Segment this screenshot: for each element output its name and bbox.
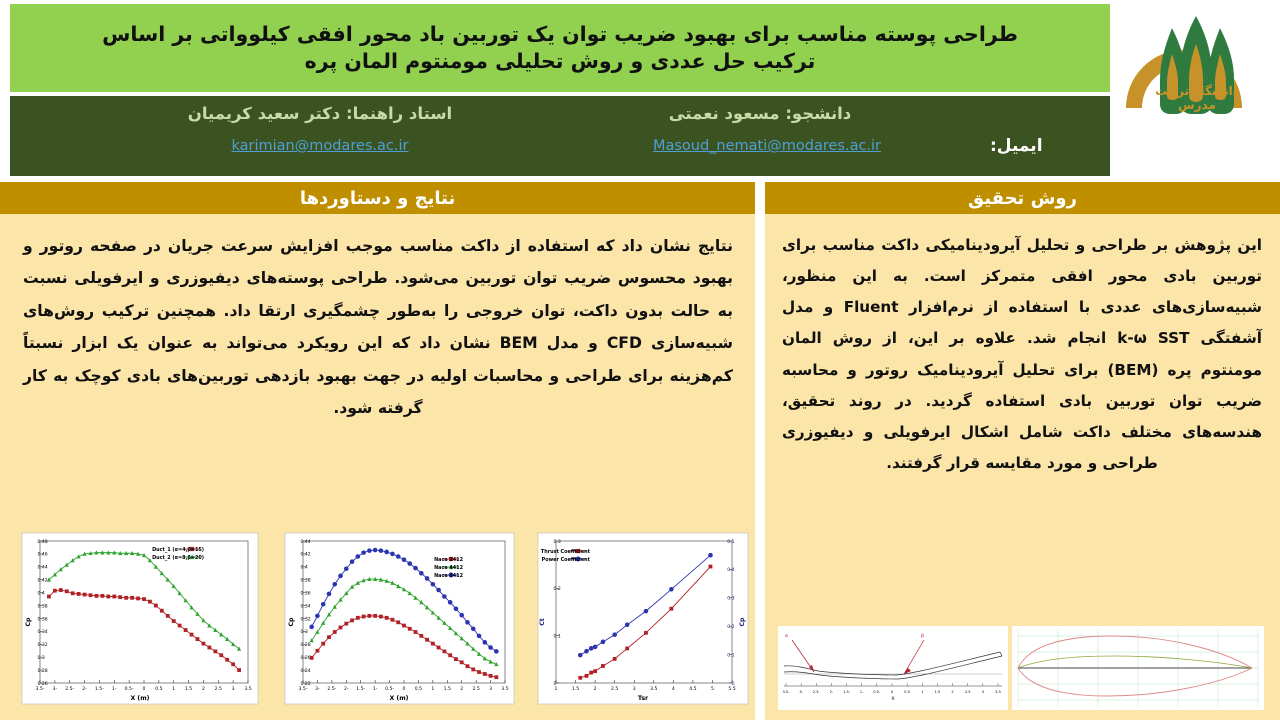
data-point — [47, 595, 51, 599]
data-point — [625, 647, 629, 651]
duct-x-tick-label: -2.5 — [813, 690, 821, 694]
duct-x-tick-label: 1 — [921, 690, 923, 694]
y-tick-label: 0.2 — [554, 586, 561, 592]
y-tick-label: 0.38 — [301, 578, 311, 584]
duct-alpha-label: α — [785, 634, 788, 639]
x-tick-label: -3.5 — [36, 686, 45, 692]
email-label: ایمیل: — [990, 136, 1100, 156]
data-point — [593, 645, 598, 650]
x-tick-label: 1.5 — [185, 686, 192, 692]
y-tick-label: 0.26 — [301, 655, 311, 661]
data-point — [402, 557, 407, 562]
legend-label: Naca 4412 — [434, 565, 463, 571]
data-point — [344, 622, 348, 626]
data-point — [431, 582, 436, 587]
x-tick-label: -1 — [373, 686, 378, 692]
x-tick-label: -3 — [53, 686, 58, 692]
data-point — [202, 642, 206, 646]
data-point — [356, 616, 360, 620]
data-point — [425, 638, 429, 642]
y-tick-label: 0.32 — [301, 616, 311, 622]
x-tick-label: -1.5 — [95, 686, 104, 692]
x-tick-label: -2 — [82, 686, 87, 692]
x-tick-label: 1.5 — [572, 686, 579, 692]
section-header-results: نتایج و دستاوردها — [0, 182, 755, 214]
data-point — [71, 591, 75, 595]
y-tick-label: 0.32 — [38, 642, 48, 648]
fig3-ylabel-right: Cp — [739, 617, 746, 627]
logo-caption: دانشگاه تربیت مدرس — [1148, 84, 1246, 112]
data-point — [338, 574, 343, 579]
data-point — [709, 565, 713, 569]
y-tick-label: 0.24 — [301, 668, 311, 674]
data-point — [112, 595, 116, 599]
data-point — [339, 626, 343, 630]
data-point — [391, 618, 395, 622]
duct-xlabel: X — [891, 696, 894, 702]
chart-duct-comparison-svg: -3.5-3-2.5-2-1.5-1-0.500.511.522.533.50.… — [14, 527, 266, 710]
duct-x-tick-label: 2.5 — [965, 690, 971, 694]
fig3-xlabel: Tsr — [638, 695, 649, 702]
data-point — [494, 675, 498, 679]
data-point — [166, 614, 170, 618]
chart-naca-comparison: -3.5-3-2.5-2-1.5-1-0.500.511.522.533.50.… — [277, 527, 522, 710]
x-tick-label: 3 — [633, 686, 636, 692]
data-point — [477, 670, 481, 674]
y-tick-label: 0.38 — [38, 603, 48, 609]
data-point — [356, 554, 361, 559]
data-point — [425, 576, 430, 581]
data-point — [407, 561, 412, 566]
data-point — [601, 664, 605, 668]
advisor-name: استاد راهنما: دکتر سعید کریمیان — [130, 104, 510, 123]
data-point — [454, 657, 458, 661]
data-point — [471, 626, 476, 631]
data-point — [160, 609, 164, 613]
airfoil-diagram — [1012, 626, 1264, 710]
data-point — [613, 657, 617, 661]
data-point — [390, 552, 395, 557]
data-point — [101, 594, 105, 598]
data-point — [402, 624, 406, 628]
poster-title-band: طراحی پوسته مناسب برای بهبود ضریب توان ی… — [10, 4, 1110, 92]
data-point — [443, 649, 447, 653]
x-tick-label: 1 — [172, 686, 175, 692]
chart-thrust-power: 11.522.533.544.555.500.10.20.300.10.20.3… — [532, 527, 754, 710]
data-point — [367, 614, 371, 618]
data-point — [379, 548, 384, 553]
data-point — [459, 613, 464, 618]
x-tick-label: 3 — [232, 686, 235, 692]
x-tick-label: -3.5 — [299, 686, 308, 692]
data-point — [350, 618, 354, 622]
data-point — [436, 588, 441, 593]
legend-label: Naca 2412 — [434, 557, 463, 563]
data-point — [584, 649, 589, 654]
data-point — [190, 633, 194, 637]
y-tick-label: 0.26 — [38, 681, 48, 687]
data-point — [231, 662, 235, 666]
duct-x-tick-label: 0.5 — [904, 690, 910, 694]
x-tick-label: -0.5 — [385, 686, 394, 692]
y-tick-label: 0.4 — [301, 565, 308, 571]
data-point — [65, 589, 69, 593]
fig2-xlabel: X (m) — [389, 695, 408, 702]
data-point — [172, 619, 176, 623]
data-point — [460, 660, 464, 664]
y-tick-label: 0.48 — [38, 539, 48, 545]
x-tick-label: 4.5 — [689, 686, 696, 692]
data-point — [644, 631, 648, 635]
legend-label: Naca 6412 — [434, 573, 463, 579]
legend-label: Duct_2 (α=8,β=20) — [152, 555, 204, 561]
y-tick-label-right: 0.2 — [727, 624, 734, 630]
data-point — [310, 656, 314, 660]
duct-x-tick-label: 1.5 — [935, 690, 941, 694]
data-point — [321, 602, 326, 607]
data-point — [708, 553, 713, 558]
data-point — [419, 571, 424, 576]
data-point — [333, 630, 337, 634]
x-tick-label: -1 — [112, 686, 117, 692]
data-point — [124, 596, 128, 600]
data-point — [59, 588, 63, 592]
data-point — [625, 622, 630, 627]
x-tick-label: 3.5 — [501, 686, 508, 692]
data-point — [332, 582, 337, 587]
y-tick-label: 0.36 — [38, 616, 48, 622]
data-point — [448, 600, 453, 605]
title-line-1: طراحی پوسته مناسب برای بهبود ضریب توان ی… — [102, 21, 1018, 48]
data-point — [396, 620, 400, 624]
data-point — [219, 653, 223, 657]
data-point — [130, 596, 134, 600]
y-tick-label: 0.4 — [38, 590, 45, 596]
duct-x-tick-label: 3 — [982, 690, 984, 694]
figure-geometry-panel: α β -3.5-3-2.5-2-1.5-1-0.500.511.522.533… — [772, 622, 1270, 714]
author-band: استاد راهنما: دکتر سعید کریمیان دانشجو: … — [10, 96, 1110, 176]
fig1-ylabel: Cp — [25, 617, 32, 627]
data-point — [362, 615, 366, 619]
method-paragraph: این پژوهش بر طراحی و تحلیل آیرودینامیکی … — [782, 230, 1262, 479]
y-tick-label-right: 0 — [732, 681, 735, 687]
data-point — [315, 614, 320, 619]
data-point — [644, 609, 649, 614]
data-point — [327, 635, 331, 639]
duct-profile-diagram: α β -3.5-3-2.5-2-1.5-1-0.500.511.522.533… — [778, 626, 1008, 710]
duct-x-tick-label: -3.5 — [782, 690, 790, 694]
page-title: طراحی پوسته مناسب برای بهبود ضریب توان ی… — [88, 21, 1032, 76]
data-point — [413, 566, 418, 571]
y-tick-label: 0.46 — [38, 552, 48, 558]
data-point — [454, 606, 459, 611]
data-point — [601, 640, 606, 645]
x-tick-label: 0.5 — [415, 686, 422, 692]
y-tick-label-right: 0.5 — [727, 539, 734, 545]
y-tick-label: 0.3 — [554, 539, 561, 545]
data-point — [309, 625, 314, 630]
data-point — [448, 653, 452, 657]
y-tick-label: 0.28 — [301, 642, 311, 648]
data-point — [207, 646, 211, 650]
x-tick-label: -2 — [344, 686, 349, 692]
data-point — [437, 646, 441, 650]
data-point — [154, 604, 158, 608]
data-point — [442, 594, 447, 599]
data-point — [53, 589, 57, 593]
data-point — [419, 634, 423, 638]
data-point — [142, 597, 146, 601]
x-tick-label: 2.5 — [215, 686, 222, 692]
fig3-ylabel-left: Ct — [539, 618, 546, 626]
data-point — [196, 637, 200, 641]
data-point — [178, 624, 182, 628]
data-point — [483, 672, 487, 676]
data-point — [669, 587, 674, 592]
data-point — [118, 595, 122, 599]
section-header-method: روش تحقیق — [765, 182, 1280, 214]
y-tick-label: 0.34 — [301, 603, 311, 609]
data-point — [344, 566, 349, 571]
data-point — [106, 595, 110, 599]
data-point — [431, 642, 435, 646]
data-point — [589, 671, 593, 675]
university-logo: دانشگاه تربیت مدرس — [1112, 0, 1280, 178]
y-tick-label: 0.1 — [554, 633, 561, 639]
x-tick-label: 0.5 — [155, 686, 162, 692]
x-tick-label: 2 — [460, 686, 463, 692]
x-tick-label: -2.5 — [65, 686, 74, 692]
data-point — [578, 676, 582, 680]
x-tick-label: 5 — [711, 686, 714, 692]
data-point — [477, 634, 482, 639]
student-name: دانشجو: مسعود نعمتی — [550, 104, 970, 123]
data-point — [373, 614, 377, 618]
data-point — [385, 616, 389, 620]
y-tick-label: 0.42 — [38, 578, 48, 584]
data-point — [83, 593, 87, 597]
y-tick-label-right: 0.3 — [727, 596, 734, 602]
y-tick-label: 0 — [554, 681, 557, 687]
x-tick-label: 1.5 — [444, 686, 451, 692]
data-point — [77, 592, 81, 596]
y-tick-label-right: 0.1 — [727, 652, 734, 658]
x-tick-label: 4 — [672, 686, 675, 692]
section-header-method-label: روش تحقیق — [968, 188, 1077, 209]
section-header-results-label: نتایج و دستاوردها — [300, 188, 455, 209]
y-tick-label: 0.22 — [301, 681, 311, 687]
legend-label: Thrust Coefficient — [541, 549, 591, 555]
data-point — [585, 674, 589, 678]
duct-x-tick-label: 3.5 — [995, 690, 1001, 694]
data-point — [350, 559, 355, 564]
data-point — [327, 592, 332, 597]
data-point — [471, 668, 475, 672]
x-tick-label: -0.5 — [125, 686, 134, 692]
student-email-link[interactable]: Masoud_nemati@modares.ac.ir — [552, 138, 982, 154]
data-point — [373, 548, 378, 553]
data-point — [321, 642, 325, 646]
x-tick-label: 0 — [403, 686, 406, 692]
figure-geometry-svg: α β -3.5-3-2.5-2-1.5-1-0.500.511.522.533… — [772, 622, 1270, 714]
duct-x-tick-label: -0.5 — [873, 690, 881, 694]
duct-x-tick-label: -1.5 — [843, 690, 851, 694]
x-tick-label: -1.5 — [356, 686, 365, 692]
x-tick-label: 3.5 — [244, 686, 251, 692]
y-tick-label: 0.36 — [301, 590, 311, 596]
data-point — [136, 597, 140, 601]
data-point — [578, 653, 583, 658]
data-point — [488, 645, 493, 650]
data-point — [384, 550, 389, 555]
advisor-email-link[interactable]: karimian@modares.ac.ir — [130, 138, 510, 154]
x-tick-label: 2.5 — [472, 686, 479, 692]
x-tick-label: -3 — [315, 686, 320, 692]
data-point — [593, 669, 597, 673]
x-tick-label: -2.5 — [327, 686, 336, 692]
results-paragraph: نتایج نشان داد که استفاده از داکت مناسب … — [23, 230, 733, 425]
y-tick-label: 0.3 — [301, 629, 308, 635]
x-tick-label: 5.5 — [728, 686, 735, 692]
fig2-ylabel: Cp — [288, 617, 295, 627]
data-point — [95, 594, 99, 598]
data-point — [367, 548, 372, 553]
x-tick-label: 2 — [202, 686, 205, 692]
y-tick-label: 0.3 — [38, 655, 45, 661]
fig1-xlabel: X (m) — [130, 695, 149, 702]
y-tick-label-right: 0.4 — [727, 567, 734, 573]
legend-label: Duct_1 (α=4,β=15) — [152, 547, 204, 553]
data-point — [148, 600, 152, 604]
data-point — [89, 593, 93, 597]
data-point — [483, 640, 488, 645]
data-point — [361, 550, 366, 555]
poster-root: طراحی پوسته مناسب برای بهبود ضریب توان ی… — [0, 0, 1280, 720]
y-tick-label: 0.44 — [38, 565, 48, 571]
y-tick-label: 0.42 — [301, 552, 311, 558]
chart-duct-comparison: -3.5-3-2.5-2-1.5-1-0.500.511.522.533.50.… — [14, 527, 266, 710]
data-point — [589, 646, 594, 651]
x-tick-label: 2 — [594, 686, 597, 692]
x-tick-label: 1 — [555, 686, 558, 692]
y-tick-label: 0.44 — [301, 539, 311, 545]
data-point — [414, 630, 418, 634]
data-point — [316, 649, 320, 653]
chart-thrust-power-svg: 11.522.533.544.555.500.10.20.300.10.20.3… — [532, 527, 754, 710]
data-point — [466, 664, 470, 668]
data-point — [379, 615, 383, 619]
y-tick-label: 0.28 — [38, 668, 48, 674]
data-point — [237, 668, 241, 672]
duct-beta-label: β — [921, 633, 924, 639]
data-point — [184, 628, 188, 632]
data-point — [612, 632, 617, 637]
x-tick-label: 3.5 — [650, 686, 657, 692]
data-point — [489, 674, 493, 678]
data-point — [465, 620, 470, 625]
data-point — [213, 649, 217, 653]
data-point — [408, 627, 412, 631]
data-point — [669, 607, 673, 611]
x-tick-label: 2.5 — [611, 686, 618, 692]
x-tick-label: 3 — [489, 686, 492, 692]
title-line-2: ترکیب حل عددی و روش تحلیلی مومنتوم المان… — [102, 48, 1018, 75]
data-point — [494, 649, 499, 654]
data-point — [225, 658, 229, 662]
x-tick-label: 1 — [431, 686, 434, 692]
data-point — [396, 554, 401, 559]
x-tick-label: 0 — [143, 686, 146, 692]
legend-label: Power Coefficient — [542, 557, 591, 563]
duct-x-tick-label: 2 — [951, 690, 953, 694]
y-tick-label: 0.34 — [38, 629, 48, 635]
chart-naca-comparison-svg: -3.5-3-2.5-2-1.5-1-0.500.511.522.533.50.… — [277, 527, 522, 710]
